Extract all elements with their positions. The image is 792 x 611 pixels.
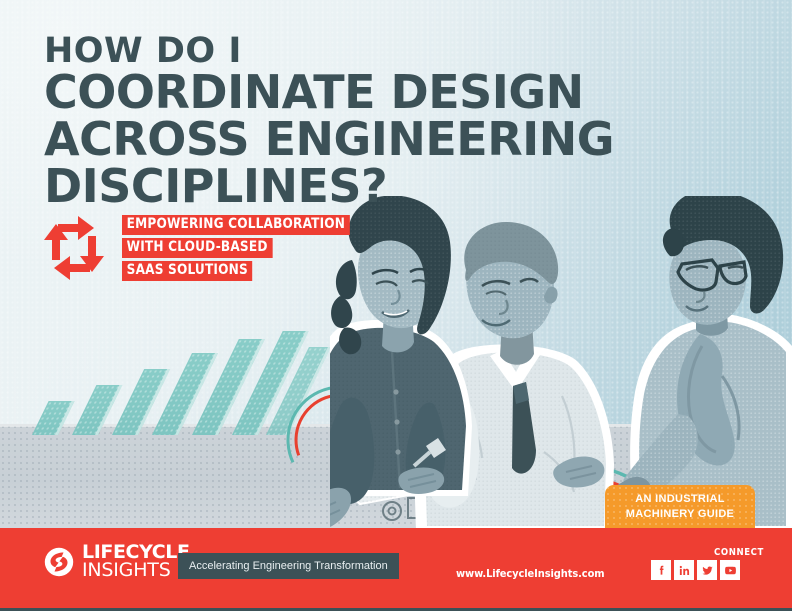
bar-chart-decoration	[22, 330, 312, 435]
decor-bar	[32, 401, 75, 435]
headline: HOW DO I COORDINATE DESIGN ACROSS ENGINE…	[44, 34, 694, 210]
badge-line-2: MACHINERY GUIDE	[605, 507, 755, 522]
connect-label: CONNECT	[714, 547, 764, 558]
collaboration-illustration	[330, 196, 792, 532]
subtitle-lines: EMPOWERING COLLABORATION WITH CLOUD-BASE…	[122, 215, 367, 282]
headline-line-1: HOW DO I	[44, 34, 694, 69]
tagline-box: Accelerating Engineering Transformation	[178, 553, 399, 579]
facebook-icon[interactable]	[651, 560, 671, 580]
brand-logo[interactable]: LIFECYCLE INSIGHTS	[44, 544, 190, 579]
industry-guide-badge: AN INDUSTRIAL MACHINERY GUIDE	[605, 485, 755, 528]
headline-line-2: COORDINATE DESIGN	[44, 69, 694, 116]
subtitle-block: EMPOWERING COLLABORATION WITH CLOUD-BASE…	[38, 210, 367, 286]
linkedin-icon[interactable]	[674, 560, 694, 580]
headline-line-4: DISCIPLINES?	[44, 163, 694, 210]
ebook-cover: HOW DO I COORDINATE DESIGN ACROSS ENGINE…	[0, 0, 792, 611]
logo-line-2: INSIGHTS	[82, 562, 190, 580]
badge-line-1: AN INDUSTRIAL	[605, 492, 755, 507]
social-links	[651, 560, 740, 580]
logo-wordmark: LIFECYCLE INSIGHTS	[82, 544, 190, 579]
subtitle-line-1: EMPOWERING COLLABORATION	[122, 215, 350, 235]
subtitle-line-3: SAAS SOLUTIONS	[122, 261, 253, 281]
cycle-arrows-icon	[38, 210, 110, 286]
website-url[interactable]: www.LifecycleInsights.com	[456, 567, 604, 580]
swoosh-circle-logo-icon	[44, 547, 74, 577]
headline-line-3: ACROSS ENGINEERING	[44, 116, 694, 163]
youtube-icon[interactable]	[720, 560, 740, 580]
subtitle-line-2: WITH CLOUD-BASED	[122, 238, 272, 258]
twitter-icon[interactable]	[697, 560, 717, 580]
